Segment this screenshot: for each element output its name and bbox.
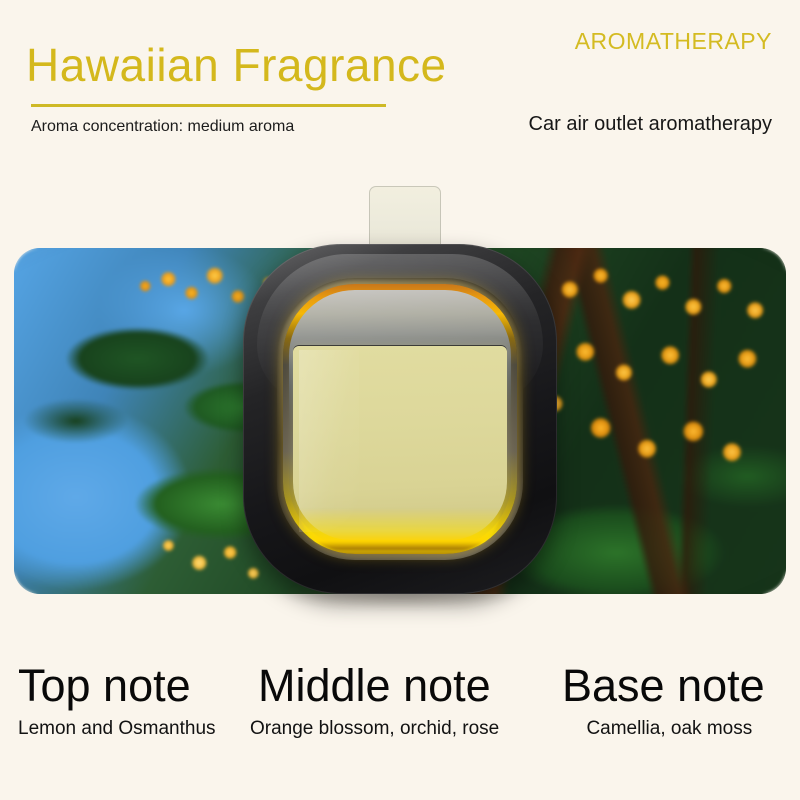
note-description: Camellia, oak moss: [574, 718, 765, 740]
note-title: Base note: [562, 660, 765, 712]
fragrance-notes: Top note Lemon and Osmanthus Middle note…: [0, 660, 800, 780]
usage-label: Car air outlet aromatherapy: [529, 113, 772, 136]
brand-eyebrow: AROMATHERAPY: [575, 28, 772, 55]
note-title: Middle note: [258, 660, 499, 712]
note-column-top: Top note Lemon and Osmanthus: [18, 660, 216, 740]
product-device: [243, 186, 557, 631]
title-underline-rule: [31, 104, 386, 107]
note-description: Lemon and Osmanthus: [18, 718, 216, 740]
device-fragrance-panel: [293, 346, 507, 540]
page-title: Hawaiian Fragrance: [26, 38, 447, 92]
aroma-concentration-label: Aroma concentration: medium aroma: [31, 118, 294, 136]
note-title: Top note: [18, 660, 216, 712]
note-column-base: Base note Camellia, oak moss: [562, 660, 765, 740]
note-description: Orange blossom, orchid, rose: [250, 718, 499, 740]
note-column-middle: Middle note Orange blossom, orchid, rose: [258, 660, 499, 740]
